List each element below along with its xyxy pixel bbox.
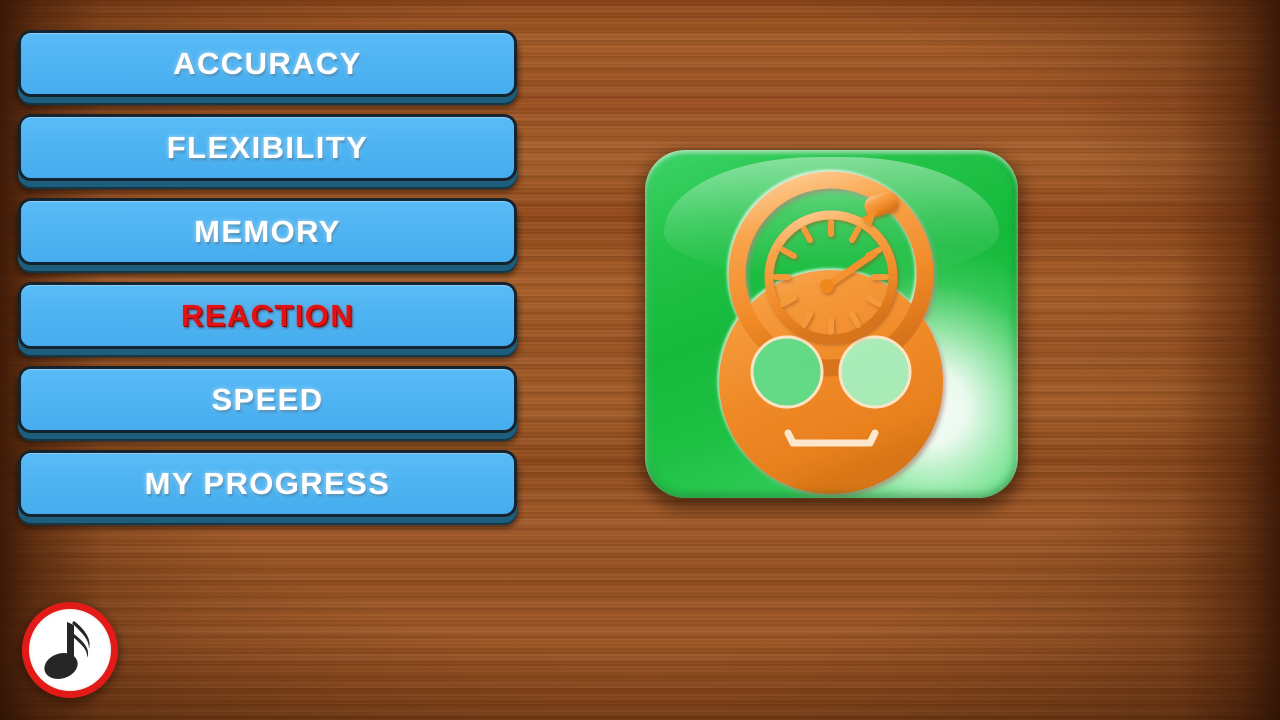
menu-item-speed[interactable]: SPEED (18, 366, 517, 433)
menu-item-label: SPEED (211, 382, 323, 418)
clock-hand-pivot (820, 279, 834, 293)
menu-item-label: MEMORY (194, 214, 341, 250)
menu-item-label: ACCURACY (173, 46, 362, 82)
menu-item-accuracy[interactable]: ACCURACY (18, 30, 517, 97)
main-menu: ACCURACY FLEXIBILITY MEMORY REACTION SPE… (18, 30, 517, 534)
menu-item-label: FLEXIBILITY (167, 130, 368, 166)
menu-item-flexibility[interactable]: FLEXIBILITY (18, 114, 517, 181)
menu-item-reaction[interactable]: REACTION (18, 282, 517, 349)
menu-item-my-progress[interactable]: MY PROGRESS (18, 450, 517, 517)
eye-left (752, 337, 822, 407)
menu-item-label: MY PROGRESS (145, 466, 391, 502)
music-note-icon (41, 619, 99, 681)
menu-item-label-selected: REACTION (181, 298, 354, 334)
music-toggle-button[interactable] (22, 602, 118, 698)
app-screen: ACCURACY FLEXIBILITY MEMORY REACTION SPE… (0, 0, 1280, 720)
reaction-game-icon-panel[interactable] (645, 150, 1018, 498)
eye-right (840, 337, 910, 407)
menu-item-memory[interactable]: MEMORY (18, 198, 517, 265)
stopwatch-face-icon (645, 150, 1018, 498)
